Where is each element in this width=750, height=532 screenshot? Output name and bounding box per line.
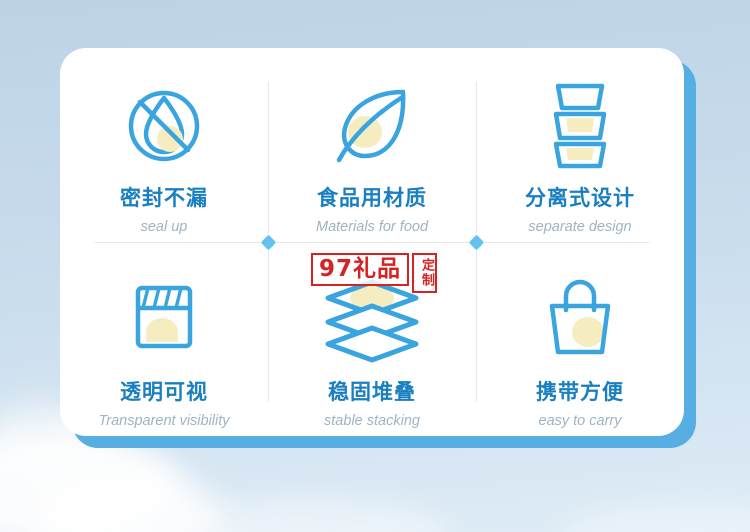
feature-title-en: stable stacking <box>324 413 420 429</box>
handbag-icon <box>532 266 628 370</box>
feature-title-cn: 分离式设计 <box>525 182 635 212</box>
watermark-side-text: 定制 <box>412 253 437 293</box>
feature-item-transparent-visibility: 透明可视 Transparent visibility <box>60 242 268 436</box>
feature-title-cn: 透明可视 <box>120 376 208 406</box>
feature-title-cn: 密封不漏 <box>120 182 208 212</box>
feature-title-en: easy to carry <box>539 413 622 429</box>
watermark-main-text: 97礼品 <box>311 253 409 286</box>
feature-title-cn: 携带方便 <box>536 376 624 406</box>
page-root: 密封不漏 seal up 食品用材质 Materials for food <box>0 0 750 532</box>
stacked-bowls-icon <box>532 72 628 176</box>
feature-title-en: separate design <box>528 219 631 235</box>
feature-grid: 密封不漏 seal up 食品用材质 Materials for food <box>60 48 684 436</box>
feature-item-easy-to-carry: 携带方便 easy to carry <box>476 242 684 436</box>
feature-title-cn: 稳固堆叠 <box>328 376 416 406</box>
feature-title-en: seal up <box>141 219 188 235</box>
feature-item-separate-design: 分离式设计 separate design <box>476 48 684 242</box>
feature-title-cn: 食品用材质 <box>317 182 427 212</box>
feature-card: 密封不漏 seal up 食品用材质 Materials for food <box>60 48 684 436</box>
feature-item-seal-up: 密封不漏 seal up <box>60 48 268 242</box>
transparent-box-icon <box>116 266 212 370</box>
feature-item-materials-for-food: 食品用材质 Materials for food <box>268 48 476 242</box>
feature-title-en: Materials for food <box>316 219 428 235</box>
no-water-drop-icon <box>116 72 212 176</box>
watermark-stamp: 97礼品 定制 <box>311 253 437 293</box>
cloud-decoration <box>560 505 750 532</box>
leaf-icon <box>317 72 427 176</box>
feature-title-en: Transparent visibility <box>98 413 229 429</box>
